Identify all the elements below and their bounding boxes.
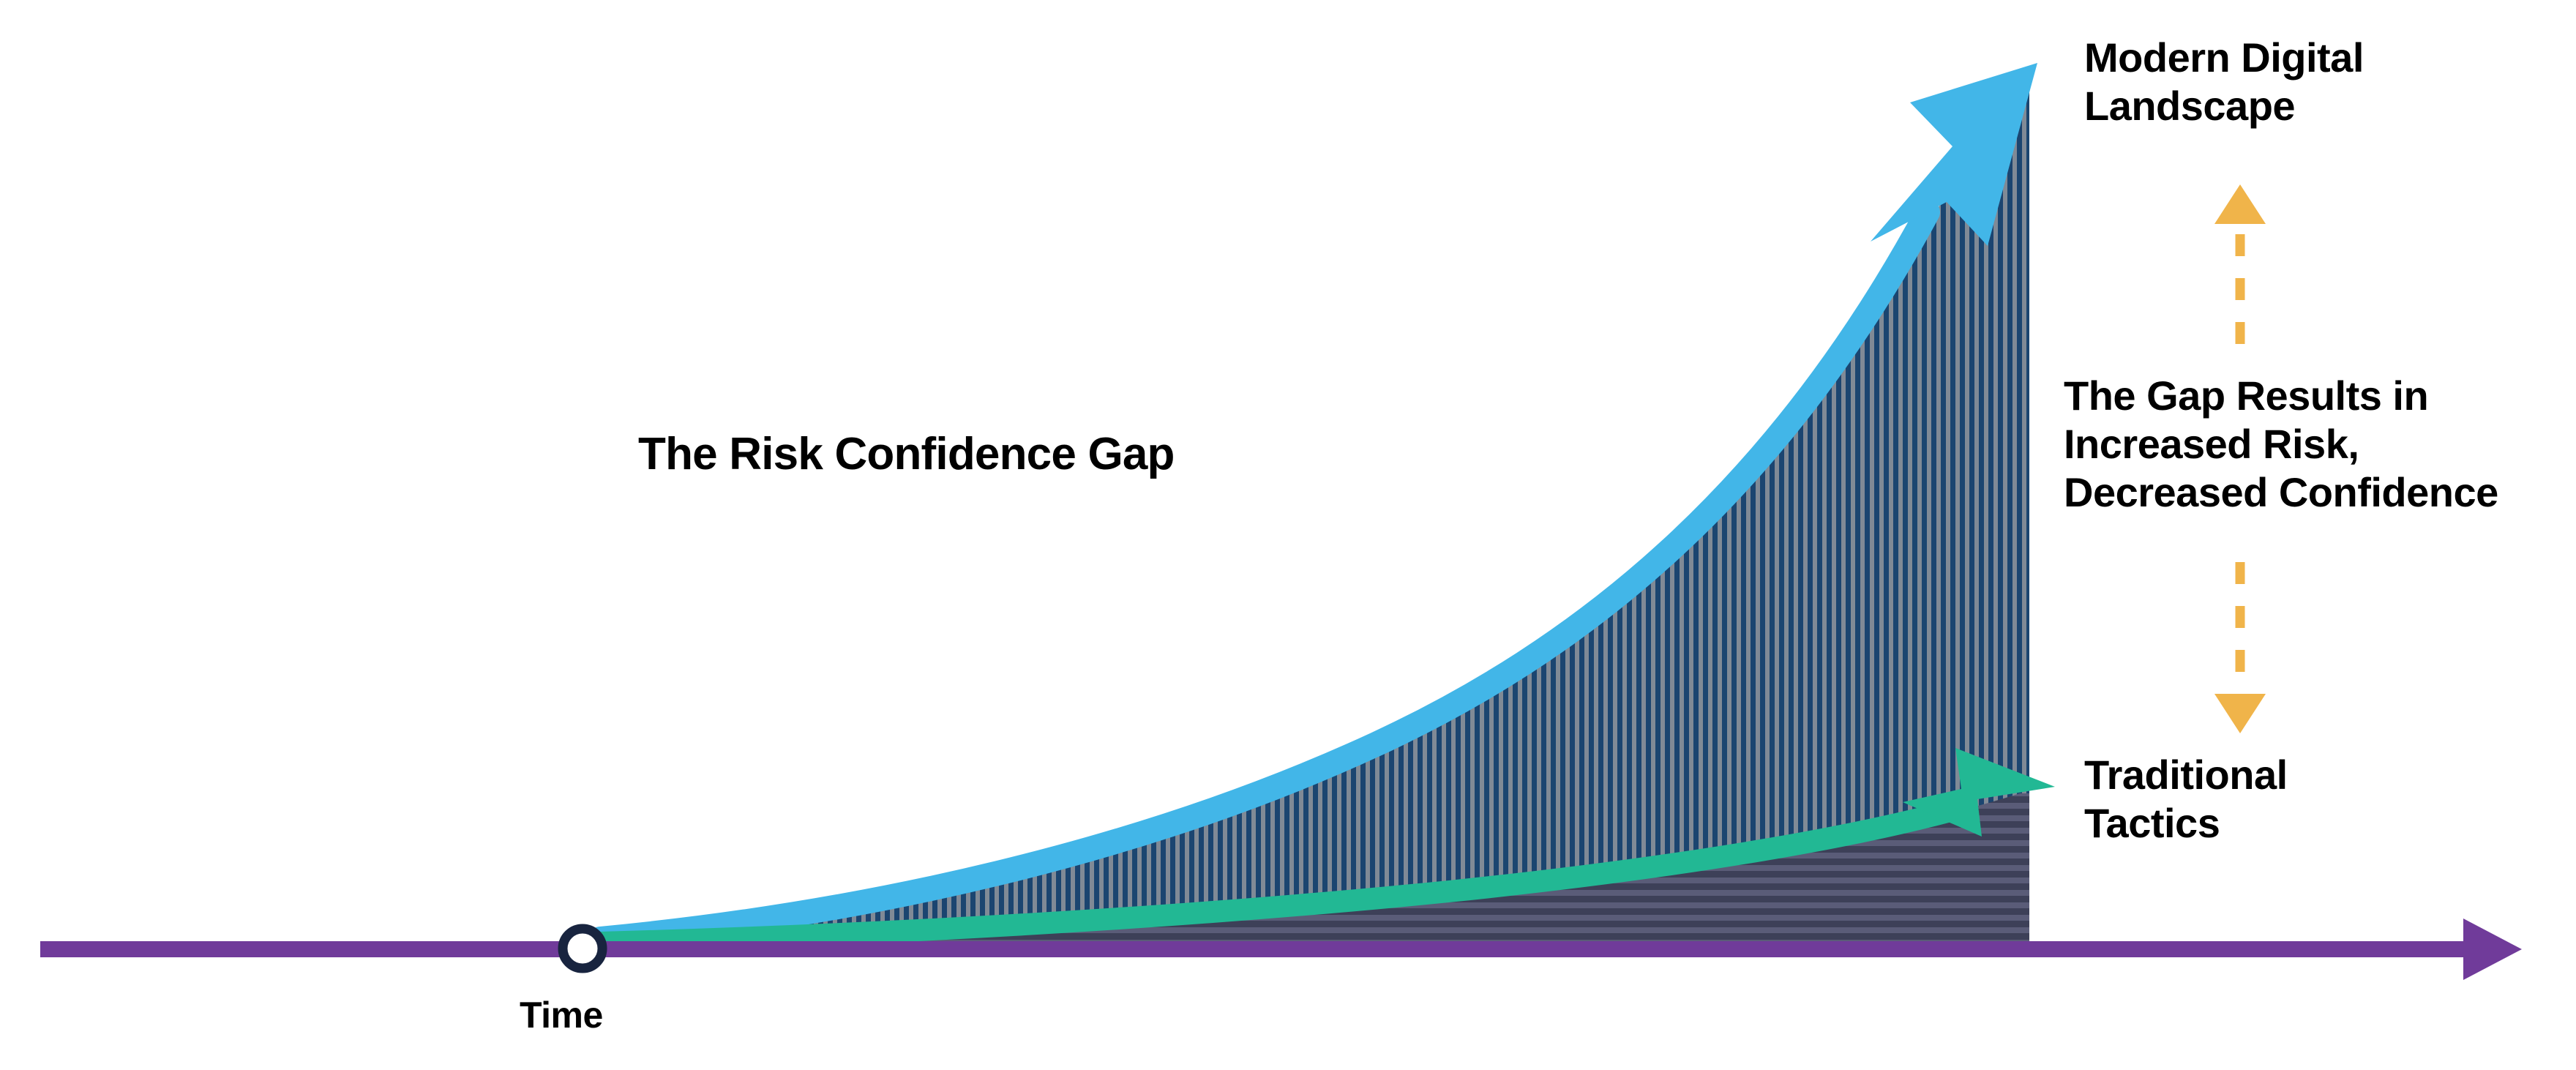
gap-region-fill [600, 85, 2029, 941]
risk-gap-region [600, 85, 2029, 941]
axis-label-time: Time [520, 994, 603, 1037]
gap-annotation-label: The Gap Results in Increased Risk, Decre… [2064, 372, 2498, 517]
page-title: The Risk Confidence Gap [638, 427, 1175, 481]
risk-confidence-gap-diagram: The Risk Confidence Gap Modern Digital L… [0, 0, 2576, 1070]
diagram-canvas [0, 0, 2576, 1070]
ring-marker-icon [563, 929, 602, 968]
gap-arrow-up-head [2214, 184, 2266, 224]
arrow-right-icon [2463, 919, 2522, 980]
series-label-traditional-tactics: Traditional Tactics [2084, 751, 2288, 848]
gap-arrow-down-head [2214, 694, 2266, 733]
series-label-modern-digital-landscape: Modern Digital Landscape [2084, 34, 2364, 130]
time-axis-line [40, 941, 2466, 957]
